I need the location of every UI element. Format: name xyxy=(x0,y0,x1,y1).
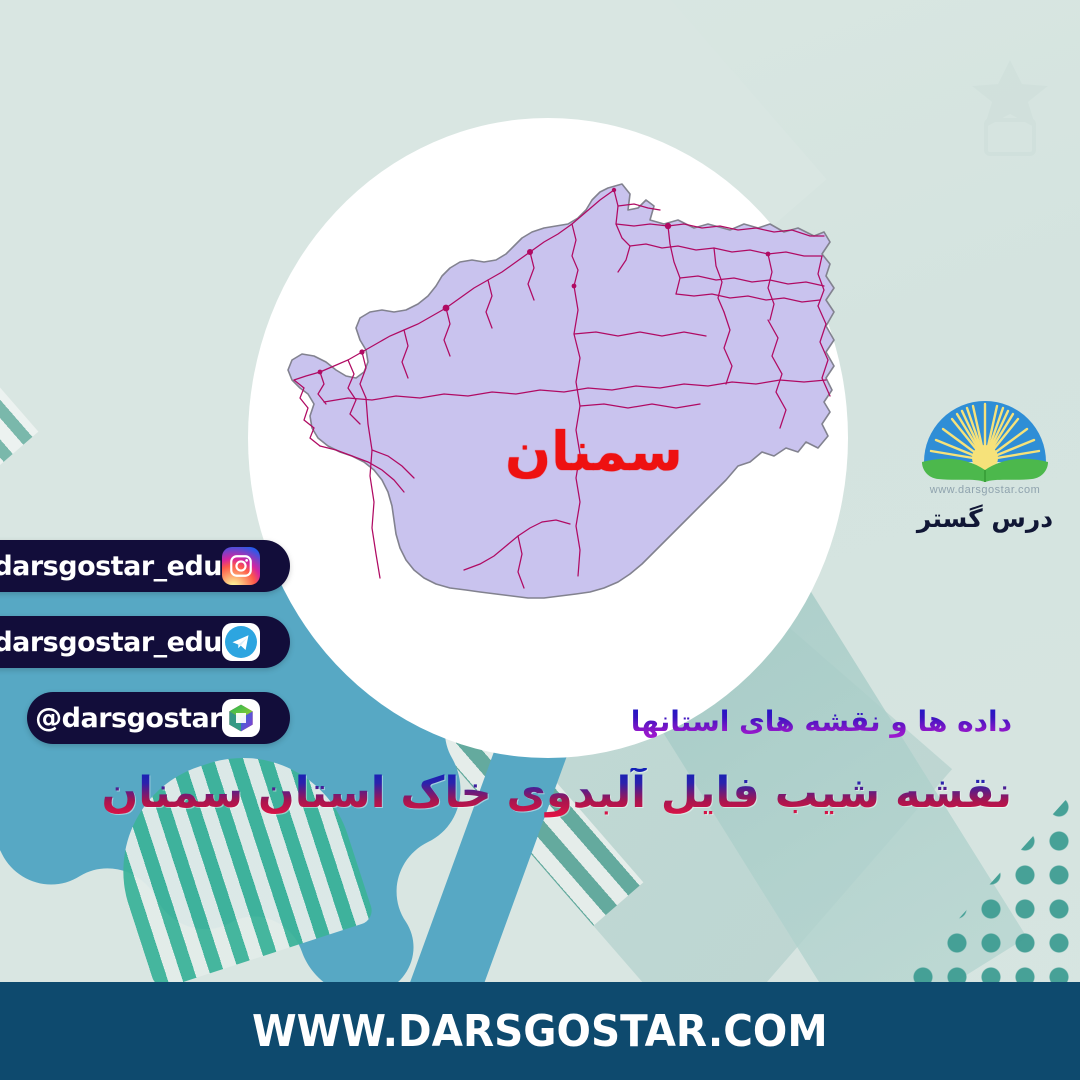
telegram-icon xyxy=(222,623,260,661)
semnan-province-map xyxy=(278,180,858,650)
rubika-icon xyxy=(222,699,260,737)
rubika-handle: @darsgostar xyxy=(35,703,222,734)
social-pill-instagram[interactable]: @darsgostar_edu xyxy=(0,540,290,592)
instagram-handle: @darsgostar_edu xyxy=(0,551,222,582)
poster-subtitle: داده ها و نقشه های استانها xyxy=(631,705,1012,738)
brand-logo: www.darsgostar.com درس گستر xyxy=(900,378,1070,533)
logo-brand-name: درس گستر xyxy=(900,504,1070,533)
sunrise-book-logo-icon xyxy=(910,378,1060,494)
map-region-label: سمنان xyxy=(505,420,683,483)
watermark-icon xyxy=(950,42,1070,162)
telegram-handle: @darsgostar_edu xyxy=(0,627,222,658)
instagram-icon xyxy=(222,547,260,585)
social-handles-list: @darsgostar_edu @darsgostar_edu xyxy=(0,540,290,768)
footer-website-text: WWW.DARSGOSTAR.COM xyxy=(252,1006,828,1057)
poster-title: نقشه شیب فایل آلبدوی خاک استان سمنان xyxy=(102,768,1012,818)
poster-canvas: سمنان @darsgostar_edu @darsgostar_ xyxy=(0,0,1080,1080)
social-pill-telegram[interactable]: @darsgostar_edu xyxy=(0,616,290,668)
social-pill-rubika[interactable]: @darsgostar xyxy=(27,692,290,744)
footer-bar: WWW.DARSGOSTAR.COM xyxy=(0,982,1080,1080)
